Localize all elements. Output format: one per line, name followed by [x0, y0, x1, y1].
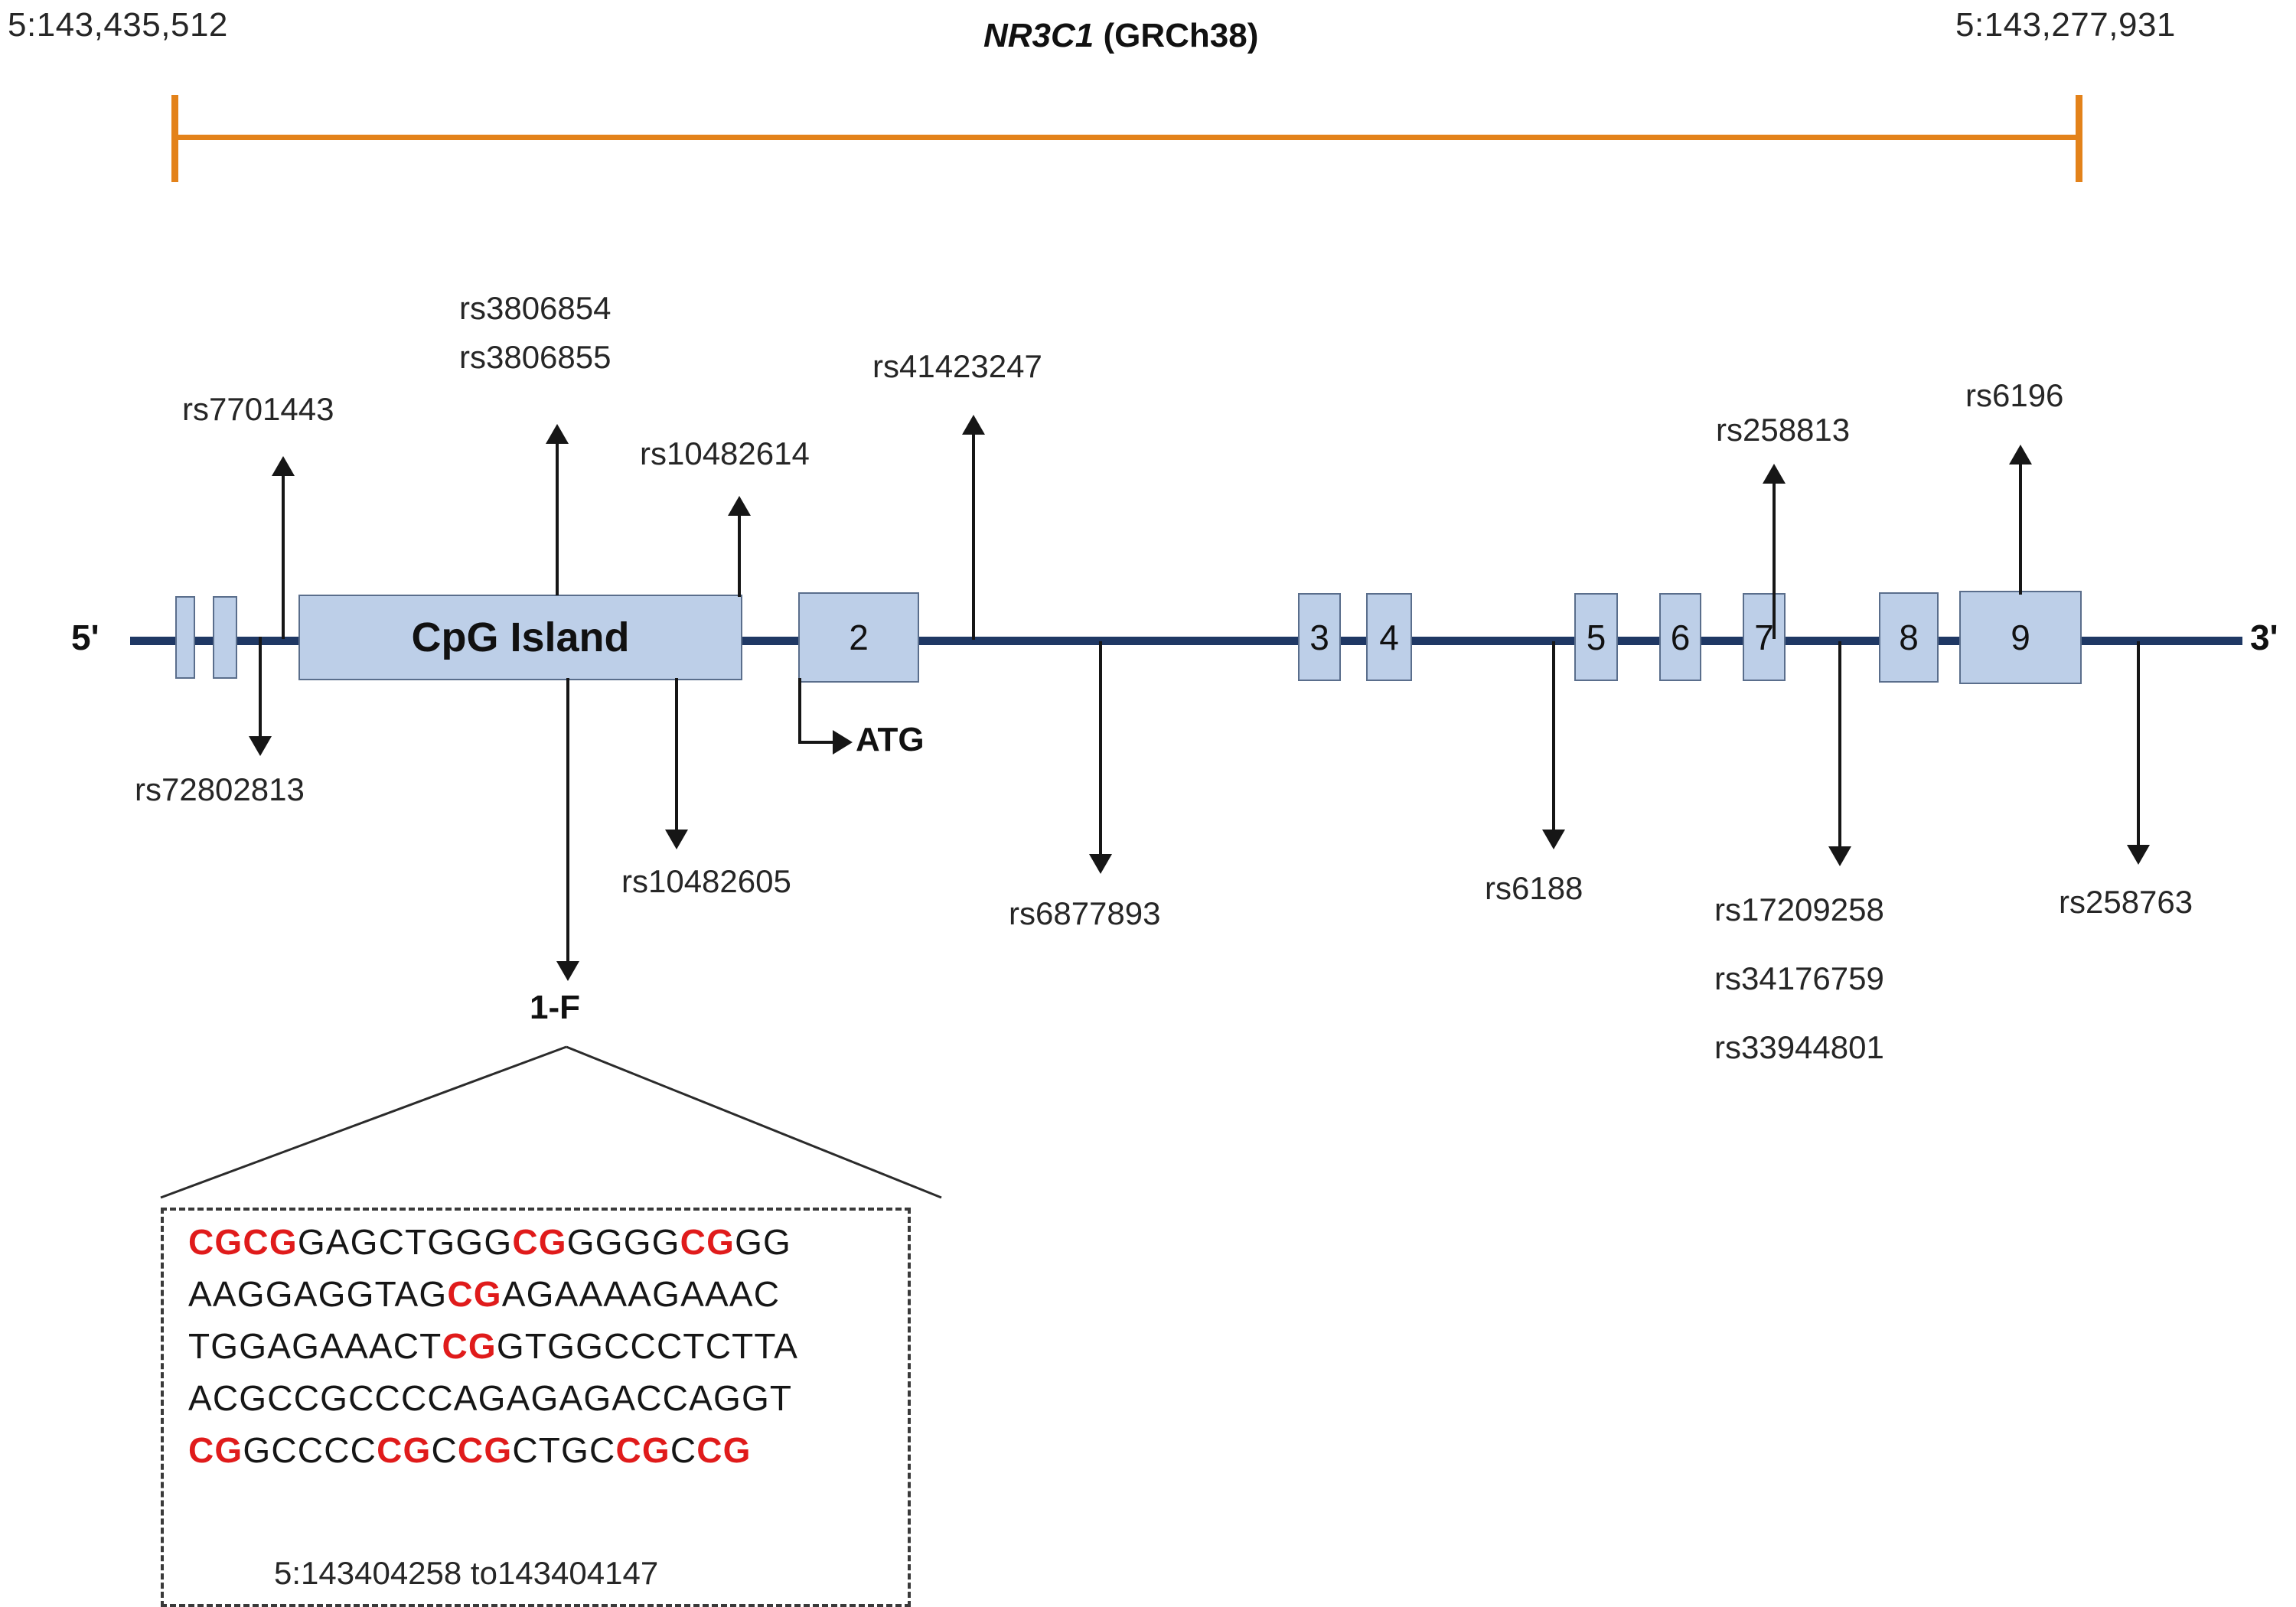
cpg-dinucleotide: CG: [680, 1222, 735, 1262]
snp-arrowhead-rs41423247: [962, 415, 985, 435]
cpg-dinucleotide: CG: [458, 1430, 512, 1470]
cpg-dinucleotide: CG: [447, 1274, 501, 1314]
snp-leader-rs7701443: [282, 474, 285, 639]
atg-label: ATG: [856, 721, 925, 759]
assembly-label: (GRCh38): [1094, 17, 1258, 54]
sequence-segment: TGGAGAAACT: [188, 1326, 442, 1366]
snp-leader-rs258763: [2137, 641, 2140, 846]
snp-label-rs34176759: rs34176759: [1714, 958, 1884, 999]
snp-label-rs17209258: rs17209258: [1714, 889, 1884, 931]
atg-arrowhead: [833, 730, 853, 755]
sequence-coordinate-caption: 5:143404258 to143404147: [274, 1555, 658, 1592]
exon-box-4: 4: [1366, 593, 1412, 681]
cpg-dinucleotide: CG: [442, 1326, 496, 1366]
snp-arrowhead-rs6877893: [1089, 854, 1112, 874]
snp-leader-rs17209258: [1838, 641, 1841, 848]
sequence-segment: AGAAAAGAAAC: [502, 1274, 780, 1314]
gene-span-right-cap: [2076, 95, 2082, 182]
snp-label-rs7701443: rs7701443: [182, 389, 334, 430]
snp-arrowhead-rs6188: [1542, 830, 1565, 849]
sequence-line-2: AAGGAGGTAGCGAGAAAAGAAAC: [188, 1276, 892, 1312]
snp-label-rs6188: rs6188: [1485, 868, 1583, 909]
sequence-callout-vee: [138, 1041, 949, 1205]
snp-leader-rs3806854: [556, 442, 559, 595]
cpg-dinucleotide: CG: [188, 1430, 243, 1470]
cpg-dinucleotide: CG: [377, 1430, 431, 1470]
snp-leader-rs10482605: [675, 678, 678, 831]
sequence-segment: GCCCC: [243, 1430, 377, 1470]
snp-leader-rs6196: [2019, 463, 2022, 595]
snp-arrowhead-rs6196: [2009, 445, 2032, 464]
snp-arrowhead-rs17209258: [1828, 846, 1851, 866]
exon-box-3: 3: [1298, 593, 1341, 681]
snp-leader-rs258813: [1773, 482, 1776, 639]
sequence-segment: ACGCCGCCCCAGAGAGACCAGGT: [188, 1378, 792, 1418]
snp-label-rs10482605: rs10482605: [621, 861, 791, 902]
gene-span-line: [174, 135, 2082, 140]
exon-box-9: 9: [1959, 591, 2082, 684]
exon-1f-label: 1-F: [530, 989, 580, 1027]
snp-arrowhead-rs258813: [1763, 464, 1786, 484]
exon-box-6: 6: [1659, 593, 1701, 681]
sequence-segment: GAGCTGGG: [298, 1222, 513, 1262]
atg-leader-vertical: [798, 678, 801, 744]
exon-box-5: 5: [1574, 593, 1618, 681]
gene-span-left-cap: [171, 95, 178, 182]
snp-leader-rs6188: [1552, 641, 1555, 831]
snp-label-rs258813: rs258813: [1716, 409, 1850, 451]
sequence-segment: C: [670, 1430, 696, 1470]
exon-1f-leader: [566, 678, 569, 963]
sequence-line-4: ACGCCGCCCCAGAGAGACCAGGT: [188, 1380, 892, 1416]
snp-arrowhead-rs3806854: [546, 424, 569, 444]
gene-title: NR3C1 (GRCh38): [983, 17, 1258, 55]
snp-arrowhead-rs10482614: [728, 496, 751, 516]
three-prime-label: 3': [2250, 617, 2278, 658]
snp-label-rs258763: rs258763: [2059, 882, 2193, 923]
gene-name: NR3C1: [983, 17, 1094, 54]
atg-leader-horizontal: [798, 741, 835, 744]
exon-box-upstream-1: [175, 596, 195, 679]
left-coordinate-label: 5:143,435,512: [8, 6, 228, 44]
cpg-dinucleotide: CG: [696, 1430, 751, 1470]
snp-label-rs72802813: rs72802813: [135, 769, 305, 810]
snp-label-rs10482614: rs10482614: [640, 433, 810, 474]
snp-leader-rs41423247: [972, 433, 975, 640]
snp-leader-rs6877893: [1099, 641, 1102, 856]
snp-leader-rs72802813: [259, 637, 262, 738]
sequence-line-1: CGCGGAGCTGGGCGGGGGCGGG: [188, 1224, 892, 1260]
snp-arrowhead-rs258763: [2127, 845, 2150, 865]
sequence-segment: GTGGCCCTCTTA: [497, 1326, 798, 1366]
sequence-lines: CGCGGAGCTGGGCGGGGGCGGG AAGGAGGTAGCGAGAAA…: [188, 1224, 892, 1468]
sequence-segment: GGGG: [567, 1222, 680, 1262]
snp-arrowhead-rs7701443: [272, 456, 295, 476]
sequence-segment: GG: [735, 1222, 791, 1262]
snp-label-rs33944801: rs33944801: [1714, 1027, 1884, 1068]
cpg-dinucleotide: CG: [615, 1430, 670, 1470]
snp-label-rs6196: rs6196: [1965, 375, 2063, 416]
sequence-segment: AAGGAGGTAG: [188, 1274, 447, 1314]
sequence-line-3: TGGAGAAACTCGGTGGCCCTCTTA: [188, 1328, 892, 1364]
cpg-dinucleotide: CG: [512, 1222, 566, 1262]
right-coordinate-label: 5:143,277,931: [1955, 6, 2176, 44]
exon-box-upstream-2: [213, 596, 237, 679]
sequence-segment: CTGC: [512, 1430, 615, 1470]
snp-arrowhead-rs10482605: [665, 830, 688, 849]
exon-box-7: 7: [1743, 593, 1786, 681]
snp-label-rs41423247: rs41423247: [872, 346, 1042, 387]
snp-arrowhead-rs72802813: [249, 736, 272, 756]
snp-label-rs3806855: rs3806855: [459, 337, 612, 378]
cpg-dinucleotide: CGCG: [188, 1222, 298, 1262]
snp-label-rs3806854: rs3806854: [459, 288, 612, 329]
exon-1f-arrowhead: [556, 961, 579, 981]
cpg-island-box: CpG Island: [298, 595, 742, 680]
exon-box-8: 8: [1879, 592, 1939, 683]
snp-leader-rs10482614: [738, 514, 741, 597]
sequence-segment: C: [431, 1430, 457, 1470]
five-prime-label: 5': [71, 617, 99, 658]
sequence-line-5: CGGCCCCCGCCGCTGCCGCCG: [188, 1433, 892, 1468]
exon-box-2: 2: [798, 592, 919, 683]
snp-label-rs6877893: rs6877893: [1009, 893, 1161, 934]
